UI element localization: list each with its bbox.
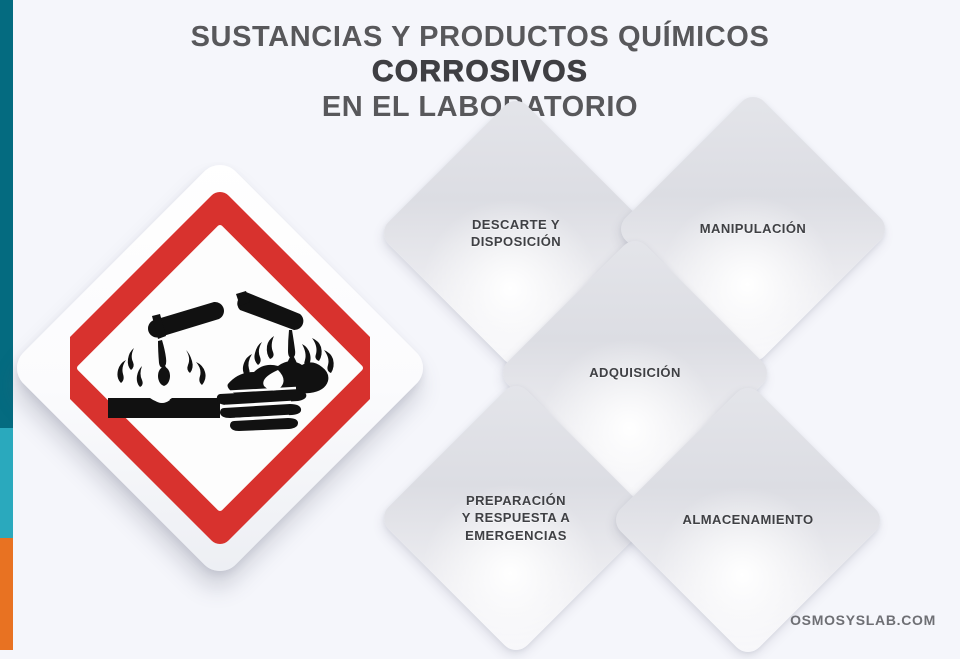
- accent-segment-cyan: [0, 428, 13, 538]
- step-label-manipulacion: MANIPULACIÓN: [700, 220, 807, 237]
- page-title: SUSTANCIAS Y PRODUCTOS QUÍMICOS CORROSIV…: [0, 20, 960, 124]
- footer-website-url[interactable]: OSMOSYSLAB.COM: [790, 612, 936, 628]
- ghs-corrosion-pictogram: [70, 142, 370, 594]
- title-line-2-emphasis: CORROSIVOS: [0, 54, 960, 89]
- title-line-3: EN EL LABORATORIO: [0, 90, 960, 124]
- pictogram-card: [8, 156, 432, 580]
- step-label-adquisicion: ADQUISICIÓN: [589, 364, 681, 381]
- step-label-preparacion: PREPARACIÓN Y RESPUESTA A EMERGENCIAS: [462, 492, 570, 543]
- step-diamond-preparacion[interactable]: PREPARACIÓN Y RESPUESTA A EMERGENCIAS: [418, 420, 614, 616]
- step-diamond-almacenamiento[interactable]: ALMACENAMIENTO: [650, 422, 846, 618]
- title-line-1: SUSTANCIAS Y PRODUCTOS QUÍMICOS: [0, 20, 960, 54]
- step-label-almacenamiento: ALMACENAMIENTO: [683, 511, 814, 528]
- accent-segment-orange: [0, 538, 13, 650]
- step-label-descarte: DESCARTE Y DISPOSICIÓN: [471, 216, 561, 250]
